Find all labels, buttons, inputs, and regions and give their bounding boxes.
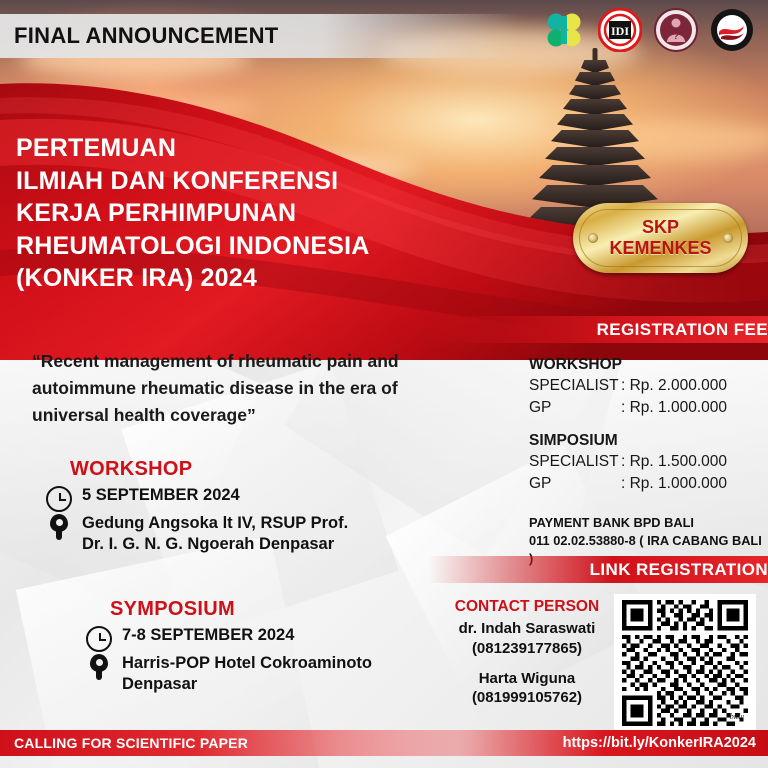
workshop-heading: WORKSHOP — [70, 458, 466, 481]
workshop-venue-line-2: Dr. I. G. N. G. Ngoerah Denpasar — [82, 534, 348, 555]
fee-row: SPECIALIST : Rp. 2.000.000 — [529, 375, 768, 397]
fee-value: : Rp. 1.000.000 — [621, 397, 727, 419]
logo-bar: IDI ? — [542, 8, 754, 52]
ira-logo — [710, 8, 754, 52]
fee-row: GP : Rp. 1.000.000 — [529, 397, 768, 419]
workshop-venue-line-1: Gedung Angsoka lt IV, RSUP Prof. — [82, 513, 348, 534]
fee-label: SPECIALIST — [529, 451, 621, 473]
location-pin-icon — [46, 514, 72, 540]
poster-canvas: FINAL ANNOUNCEMENT IDI — [0, 0, 768, 768]
registration-fee-label: REGISTRATION FEE — [597, 320, 768, 340]
fee-row: GP : Rp. 1.000.000 — [529, 473, 768, 495]
fee-label: GP — [529, 397, 621, 419]
fee-group-workshop-title: WORKSHOP — [529, 356, 768, 374]
symposium-date: 7-8 SEPTEMBER 2024 — [122, 625, 294, 646]
event-title: PERTEMUAN ILMIAH DAN KONFERENSI KERJA PE… — [16, 132, 486, 295]
contact-person-2-name: Harta Wiguna — [443, 669, 611, 689]
svg-text:?: ? — [673, 31, 679, 41]
fee-group-simposium-title: SIMPOSIUM — [529, 432, 768, 450]
event-block-workshop: WORKSHOP 5 SEPTEMBER 2024 Gedung Angsoka… — [46, 458, 466, 556]
registration-url[interactable]: https://bit.ly/KonkerIRA2024 — [563, 735, 756, 751]
symposium-venue-line-1: Harris-POP Hotel Cokroaminoto — [122, 653, 372, 674]
workshop-date: 5 SEPTEMBER 2024 — [82, 485, 240, 506]
symposium-venue-row: Harris-POP Hotel Cokroaminoto Denpasar — [86, 653, 486, 695]
skp-kemenkes-badge: SKP KEMENKES — [573, 203, 748, 273]
title-line-3: KERJA PERHIMPUNAN — [16, 197, 486, 230]
symposium-heading: SYMPOSIUM — [110, 598, 486, 621]
badge-rivet — [588, 233, 598, 243]
qr-code-container[interactable]: bitly — [614, 594, 756, 732]
announcement-label: FINAL ANNOUNCEMENT — [14, 23, 279, 49]
calling-for-paper-label: CALLING FOR SCIENTIFIC PAPER — [14, 735, 248, 751]
workshop-date-row: 5 SEPTEMBER 2024 — [46, 485, 466, 512]
payment-bank: PAYMENT BANK BPD BALI — [529, 514, 768, 532]
final-announcement-strip: FINAL ANNOUNCEMENT — [0, 14, 520, 58]
contact-person-2-phone[interactable]: (081999105762) — [443, 688, 611, 708]
fee-value: : Rp. 1.000.000 — [621, 473, 727, 495]
contact-heading: CONTACT PERSON — [443, 598, 611, 616]
title-line-1: PERTEMUAN — [16, 132, 486, 165]
kemenkes-logo — [542, 8, 586, 52]
papdi-logo: ? — [654, 8, 698, 52]
skp-line-2: KEMENKES — [609, 238, 711, 259]
registration-fee-list: WORKSHOP SPECIALIST : Rp. 2.000.000 GP :… — [529, 356, 768, 495]
badge-rivet — [723, 233, 733, 243]
symposium-venue-line-2: Denpasar — [122, 674, 372, 695]
qr-code-icon[interactable] — [620, 600, 750, 726]
contact-person-block: CONTACT PERSON dr. Indah Saraswati (0812… — [443, 598, 611, 708]
theme-quote: “Recent management of rheumatic pain and… — [32, 348, 462, 429]
registration-fee-ribbon: REGISTRATION FEE — [428, 316, 768, 343]
idi-logo: IDI — [598, 8, 642, 52]
fee-row: SPECIALIST : Rp. 1.500.000 — [529, 451, 768, 473]
symposium-date-row: 7-8 SEPTEMBER 2024 — [86, 625, 486, 652]
link-registration-ribbon: LINK REGISTRATION — [428, 556, 768, 583]
svg-text:IDI: IDI — [611, 24, 629, 38]
footer-bar: CALLING FOR SCIENTIFIC PAPER https://bit… — [0, 730, 768, 756]
title-line-5: (KONKER IRA) 2024 — [16, 262, 486, 295]
link-registration-label: LINK REGISTRATION — [590, 560, 768, 580]
fee-value: : Rp. 1.500.000 — [621, 451, 727, 473]
contact-person-1-phone[interactable]: (081239177865) — [443, 639, 611, 659]
bitly-watermark: bitly — [730, 712, 744, 721]
workshop-venue-row: Gedung Angsoka lt IV, RSUP Prof. Dr. I. … — [46, 513, 466, 555]
clock-icon — [86, 626, 112, 652]
clock-icon — [46, 486, 72, 512]
location-pin-icon — [86, 654, 112, 680]
fee-label: GP — [529, 473, 621, 495]
fee-value: : Rp. 2.000.000 — [621, 375, 727, 397]
contact-person-1-name: dr. Indah Saraswati — [443, 619, 611, 639]
skp-line-1: SKP — [609, 217, 711, 238]
fee-label: SPECIALIST — [529, 375, 621, 397]
registration-url-bar[interactable]: https://bit.ly/KonkerIRA2024 — [338, 730, 768, 756]
title-line-2: ILMIAH DAN KONFERENSI — [16, 165, 486, 198]
event-block-symposium: SYMPOSIUM 7-8 SEPTEMBER 2024 Harris-POP … — [86, 598, 486, 696]
title-line-4: RHEUMATOLOGI INDONESIA — [16, 230, 486, 263]
